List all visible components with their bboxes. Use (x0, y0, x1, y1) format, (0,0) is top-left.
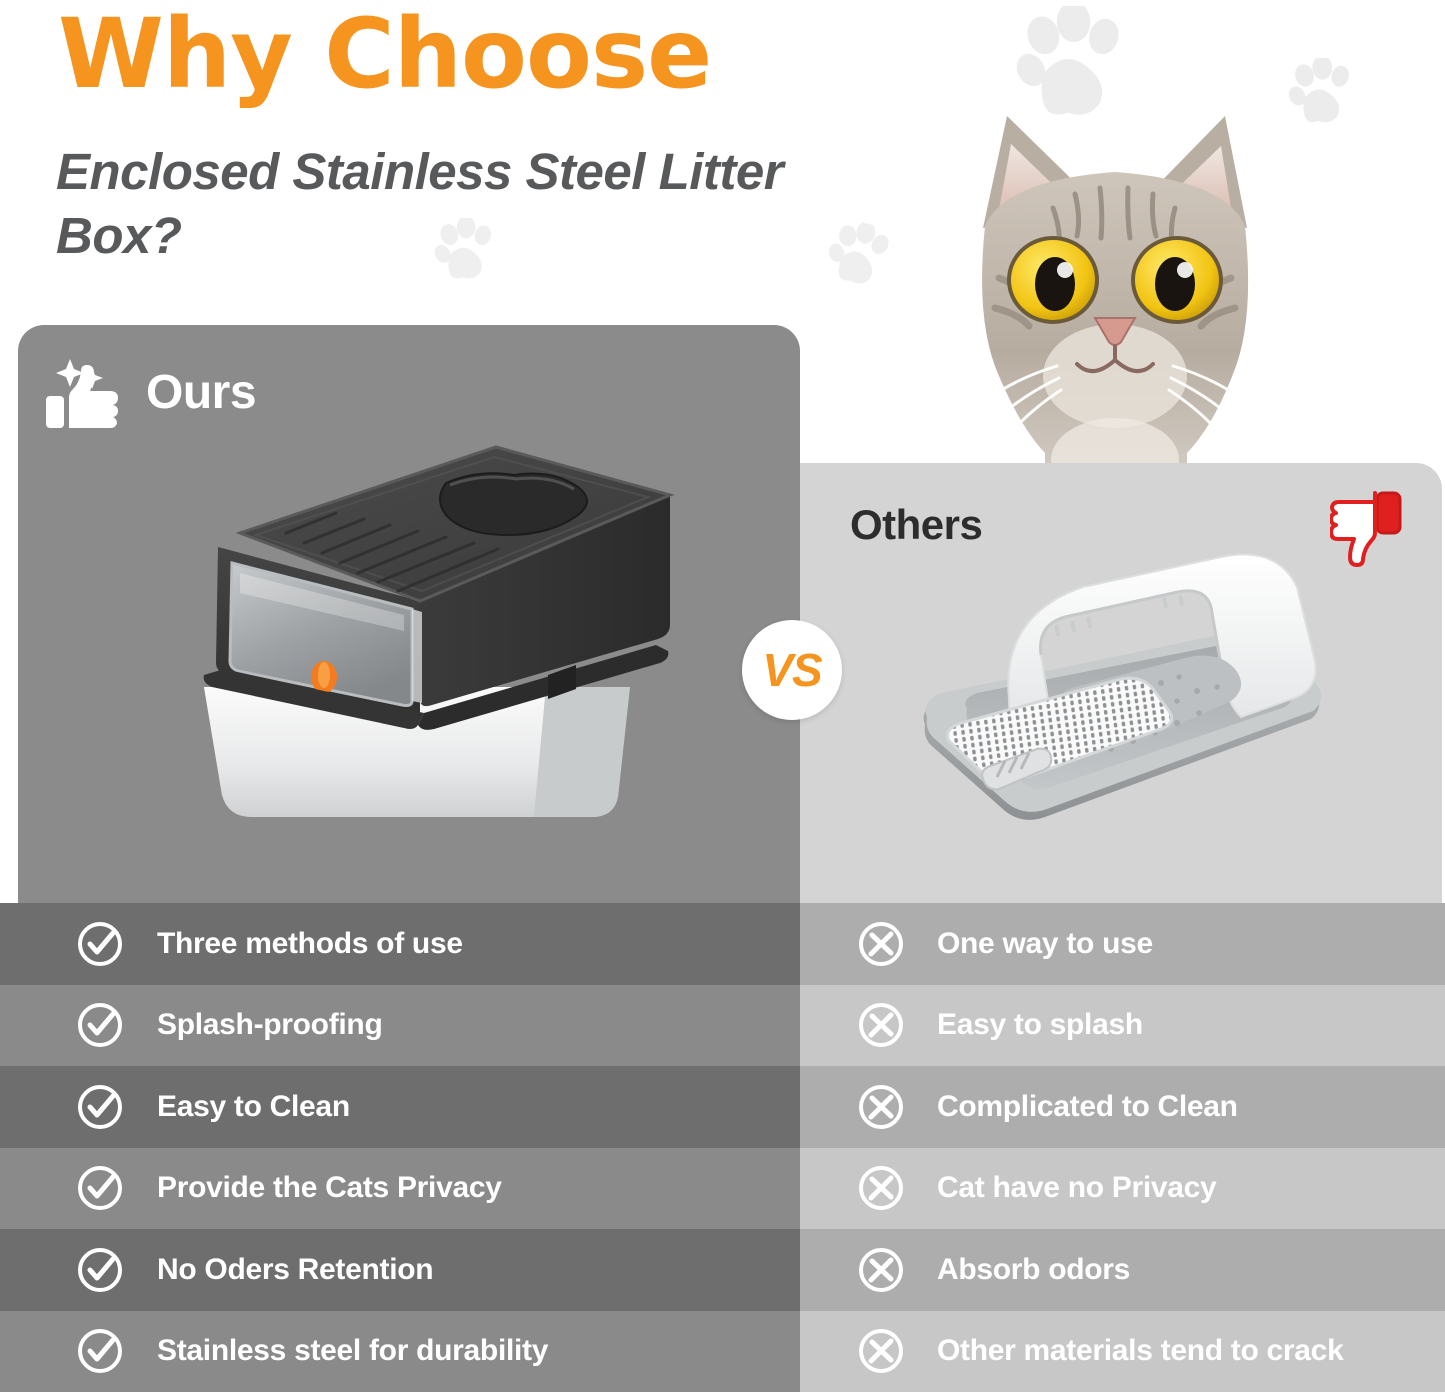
x-circle-icon (857, 1164, 905, 1212)
feature-label: Absorb odors (937, 1253, 1130, 1287)
table-row: Easy to Clean Complicated to Clean (0, 1066, 1445, 1148)
ours-panel: Ours (18, 325, 800, 903)
check-circle-icon (76, 1164, 124, 1212)
table-row: Three methods of use One way to use (0, 903, 1445, 985)
others-feature-cell: Complicated to Clean (800, 1066, 1445, 1148)
feature-label: Splash-proofing (157, 1008, 382, 1042)
comparison-table: Three methods of use One way to use Spla… (0, 903, 1445, 1392)
vs-label: VS (762, 643, 821, 697)
header: Why Choose Enclosed Stainless Steel Litt… (0, 0, 900, 300)
ours-feature-cell: Three methods of use (0, 903, 800, 985)
others-feature-cell: Easy to splash (800, 985, 1445, 1067)
feature-label: One way to use (937, 927, 1153, 961)
table-row: Stainless steel for durability Other mat… (0, 1311, 1445, 1392)
others-feature-cell: Other materials tend to crack (800, 1311, 1445, 1392)
others-feature-cell: One way to use (800, 903, 1445, 985)
ours-feature-cell: Stainless steel for durability (0, 1311, 800, 1392)
thumbs-up-sparkle-icon (42, 347, 128, 438)
feature-label: Easy to splash (937, 1008, 1143, 1042)
ours-feature-cell: Provide the Cats Privacy (0, 1148, 800, 1230)
ours-feature-cell: Splash-proofing (0, 985, 800, 1067)
feature-label: Complicated to Clean (937, 1090, 1238, 1124)
check-circle-icon (76, 1001, 124, 1049)
others-feature-cell: Cat have no Privacy (800, 1148, 1445, 1230)
ours-label: Ours (146, 365, 256, 420)
ours-product-image (178, 425, 698, 855)
table-row: Splash-proofing Easy to splash (0, 985, 1445, 1067)
feature-label: Cat have no Privacy (937, 1171, 1216, 1205)
others-feature-cell: Absorb odors (800, 1229, 1445, 1311)
page-title: Why Choose (58, 4, 711, 105)
check-circle-icon (76, 1327, 124, 1375)
others-panel: Others (800, 463, 1442, 903)
x-circle-icon (857, 1246, 905, 1294)
check-circle-icon (76, 920, 124, 968)
vs-badge: VS (742, 620, 842, 720)
ours-feature-cell: No Oders Retention (0, 1229, 800, 1311)
feature-label: Provide the Cats Privacy (157, 1171, 502, 1205)
x-circle-icon (857, 920, 905, 968)
page-subtitle: Enclosed Stainless Steel Litter Box? (56, 140, 876, 269)
table-row: Provide the Cats Privacy Cat have no Pri… (0, 1148, 1445, 1230)
x-circle-icon (857, 1327, 905, 1375)
ours-feature-cell: Easy to Clean (0, 1066, 800, 1148)
check-circle-icon (76, 1083, 124, 1131)
check-circle-icon (76, 1246, 124, 1294)
feature-label: Easy to Clean (157, 1090, 350, 1124)
feature-label: No Oders Retention (157, 1253, 433, 1287)
feature-label: Other materials tend to crack (937, 1334, 1343, 1368)
x-circle-icon (857, 1001, 905, 1049)
surprised-cat-photo (925, 108, 1305, 498)
feature-label: Three methods of use (157, 927, 463, 961)
feature-label: Stainless steel for durability (157, 1334, 548, 1368)
x-circle-icon (857, 1083, 905, 1131)
table-row: No Oders Retention Absorb odors (0, 1229, 1445, 1311)
paw-print-icon (1012, 6, 1124, 124)
others-product-image (905, 511, 1335, 861)
thumbs-down-icon (1330, 489, 1404, 569)
